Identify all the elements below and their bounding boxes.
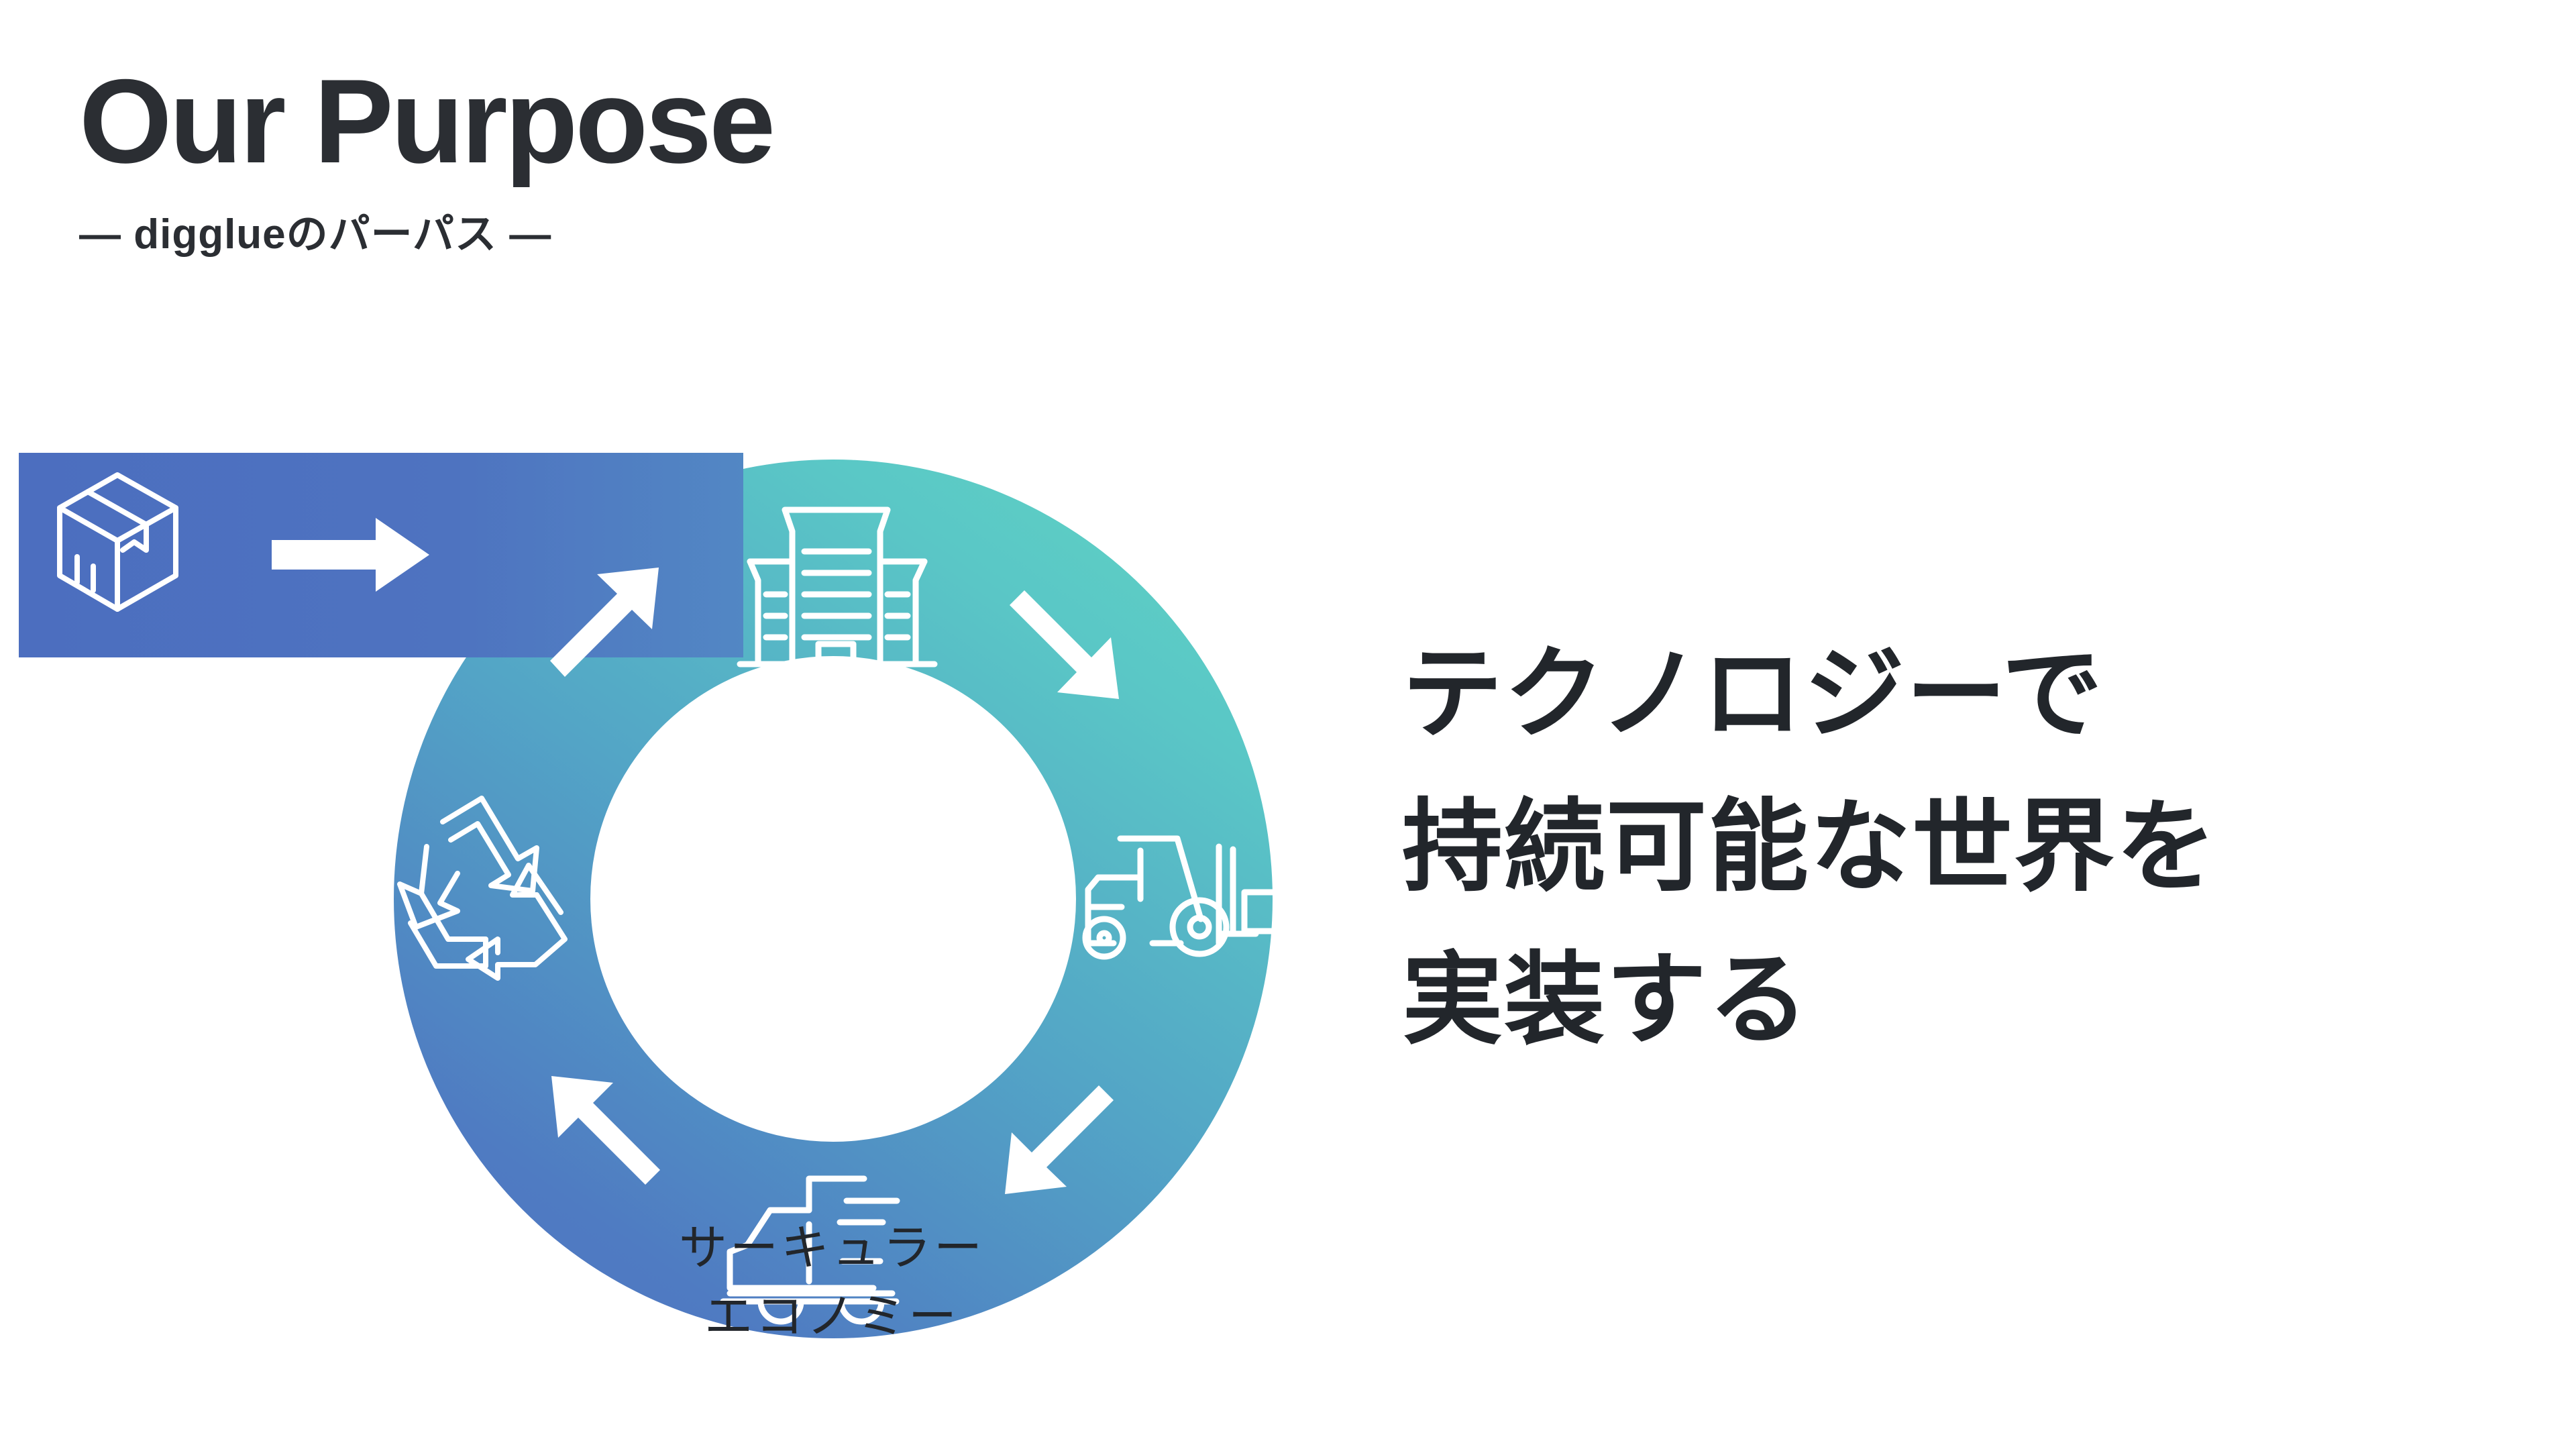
tagline-line-3: 実装する [1402, 923, 2489, 1076]
tagline-line-1: テクノロジーで [1402, 617, 2489, 770]
purpose-tagline: テクノロジーで 持続可能な世界を 実装する [1402, 617, 2489, 1076]
page-title: Our Purpose [79, 60, 1287, 182]
cycle-graphic [0, 429, 1382, 1382]
tagline-line-2: 持続可能な世界を [1402, 770, 2489, 923]
page-subtitle: — digglueのパーパス — [79, 200, 1287, 260]
header: Our Purpose — digglueのパーパス — [79, 60, 1287, 260]
circular-economy-diagram: サーキュラー エコノミー [0, 429, 1382, 1382]
